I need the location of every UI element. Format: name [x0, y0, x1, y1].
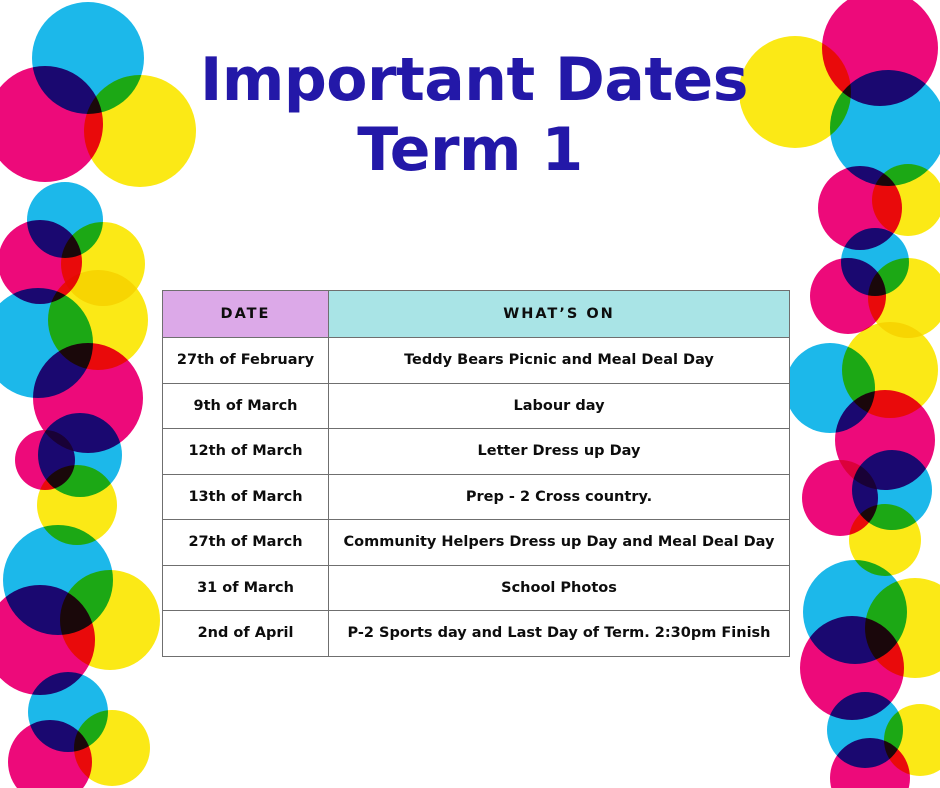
- decorative-circle: [785, 343, 875, 433]
- cell-date: 27th of March: [163, 520, 329, 566]
- cell-date: 13th of March: [163, 474, 329, 520]
- table-row: 2nd of AprilP-2 Sports day and Last Day …: [163, 611, 790, 657]
- table-header: DATE WHAT’S ON: [163, 291, 790, 338]
- decorative-circle: [740, 36, 851, 148]
- decorative-circle: [803, 560, 907, 664]
- decorative-circle: [865, 578, 940, 678]
- table-body: 27th of FebruaryTeddy Bears Picnic and M…: [163, 338, 790, 657]
- decorative-circle: [0, 585, 95, 695]
- cell-event: Community Helpers Dress up Day and Meal …: [329, 520, 790, 566]
- decorative-circle: [33, 343, 143, 453]
- cell-date: 12th of March: [163, 429, 329, 475]
- decorative-circle: [830, 70, 940, 186]
- decorative-circle: [3, 525, 113, 635]
- decorative-circle: [835, 390, 935, 490]
- decorative-circle: [61, 222, 145, 306]
- decorative-circle: [802, 460, 878, 536]
- decorative-circle: [84, 75, 196, 187]
- decorative-circle: [884, 704, 940, 776]
- decorative-circle: [8, 720, 92, 788]
- decorative-circle: [38, 413, 122, 497]
- column-header-whats-on: WHAT’S ON: [329, 291, 790, 338]
- decorative-circle: [849, 504, 921, 576]
- decorative-circle: [15, 430, 75, 490]
- decorative-circle: [32, 2, 144, 114]
- cell-date: 31 of March: [163, 565, 329, 611]
- page-title: Important Dates Term 1: [200, 46, 740, 185]
- decorative-circle: [0, 220, 82, 304]
- cell-event: Teddy Bears Picnic and Meal Deal Day: [329, 338, 790, 384]
- cell-date: 9th of March: [163, 383, 329, 429]
- table-row: 31 of MarchSchool Photos: [163, 565, 790, 611]
- decorative-circle: [852, 450, 932, 530]
- table-row: 13th of MarchPrep - 2 Cross country.: [163, 474, 790, 520]
- decorative-circle: [0, 66, 103, 182]
- decorative-circle: [818, 166, 902, 250]
- cell-event: Labour day: [329, 383, 790, 429]
- decorative-circle: [60, 570, 160, 670]
- decorative-circle: [27, 182, 103, 258]
- decorative-circle: [827, 692, 903, 768]
- decorative-circle: [0, 288, 93, 398]
- table-header-row: DATE WHAT’S ON: [163, 291, 790, 338]
- column-header-date: DATE: [163, 291, 329, 338]
- cell-event: Letter Dress up Day: [329, 429, 790, 475]
- decorative-circle: [830, 738, 910, 788]
- cell-event: Prep - 2 Cross country.: [329, 474, 790, 520]
- decorative-circle: [800, 616, 904, 720]
- title-line-2: Term 1: [200, 116, 740, 186]
- decorative-circle: [28, 672, 108, 752]
- important-dates-table: DATE WHAT’S ON 27th of FebruaryTeddy Bea…: [162, 290, 790, 657]
- cell-date: 2nd of April: [163, 611, 329, 657]
- poster-canvas: Important Dates Term 1 DATE WHAT’S ON 27…: [0, 0, 940, 788]
- cell-event: P-2 Sports day and Last Day of Term. 2:3…: [329, 611, 790, 657]
- decorative-circle: [872, 164, 940, 236]
- table-row: 27th of MarchCommunity Helpers Dress up …: [163, 520, 790, 566]
- table-row: 27th of FebruaryTeddy Bears Picnic and M…: [163, 338, 790, 384]
- decorative-circle: [810, 258, 886, 334]
- decorative-circle: [822, 0, 938, 106]
- important-dates-table-wrapper: DATE WHAT’S ON 27th of FebruaryTeddy Bea…: [162, 290, 790, 657]
- decorative-circle: [48, 270, 148, 370]
- table-row: 9th of MarchLabour day: [163, 383, 790, 429]
- cell-event: School Photos: [329, 565, 790, 611]
- title-line-1: Important Dates: [200, 46, 740, 116]
- cell-date: 27th of February: [163, 338, 329, 384]
- decorative-circle: [868, 258, 940, 338]
- decorative-circle: [37, 465, 117, 545]
- decorative-circle: [841, 228, 909, 296]
- table-row: 12th of MarchLetter Dress up Day: [163, 429, 790, 475]
- decorative-circle: [842, 322, 938, 418]
- decorative-circle: [74, 710, 150, 786]
